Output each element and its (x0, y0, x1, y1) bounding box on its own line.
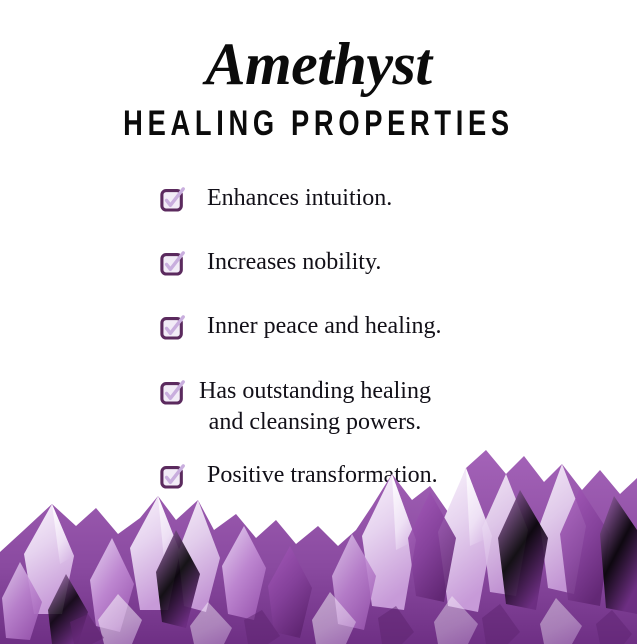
checked-checkbox-icon (160, 187, 185, 212)
checked-checkbox-icon (160, 315, 185, 340)
benefit-text-line-1: Has outstanding healing (199, 378, 431, 404)
list-item: Has outstanding healing and cleansing po… (0, 376, 637, 438)
page-subtitle: HEALING PROPERTIES (70, 94, 567, 141)
benefit-text: Increases nobility. (185, 247, 381, 278)
page-title: Amethyst (0, 34, 637, 94)
list-item: Increases nobility. (0, 247, 637, 278)
list-item: Inner peace and healing. (0, 311, 637, 342)
benefit-text: Enhances intuition. (185, 183, 392, 214)
list-item: Enhances intuition. (0, 183, 637, 214)
benefit-text-line-2: and cleansing powers. (209, 409, 422, 435)
checked-checkbox-icon (160, 251, 185, 276)
benefit-text: Has outstanding healing and cleansing po… (185, 376, 431, 438)
amethyst-healing-properties-infographic: Amethyst HEALING PROPERTIES Enhances int… (0, 0, 637, 644)
checked-checkbox-icon (160, 380, 185, 405)
benefit-text: Inner peace and healing. (185, 311, 442, 342)
header: Amethyst HEALING PROPERTIES (0, 0, 637, 141)
amethyst-crystal-cluster-image (0, 434, 637, 644)
